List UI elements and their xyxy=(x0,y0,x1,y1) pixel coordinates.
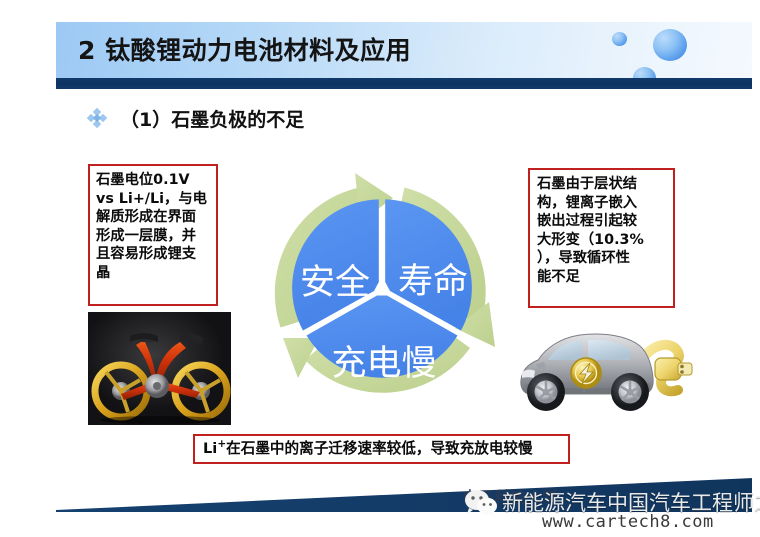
segment-lifespan-label: 寿命 xyxy=(398,262,468,302)
decorative-bubble-large xyxy=(653,29,687,61)
concept-electric-bicycle-photo xyxy=(88,312,231,425)
callout-left-line: 且容易形成锂支 xyxy=(96,245,212,264)
header-underline-bar xyxy=(56,78,753,89)
callout-bottom-rest: 在石墨中的离子迁移速率较低，导致充放电较慢 xyxy=(226,440,532,457)
car-rear-wheel xyxy=(527,373,565,411)
slide-canvas: 2 钛酸锂动力电池材料及应用 （1）石墨负极的不足 石墨电位0.1V vs Li… xyxy=(0,0,760,537)
canvas-top-margin xyxy=(0,0,760,22)
callout-bottom-ion-diffusion: Li+在石墨中的离子迁移速率较低，导致充放电较慢 xyxy=(193,434,570,464)
lightning-badge-icon xyxy=(571,358,601,388)
canvas-right-margin xyxy=(752,0,760,537)
callout-right-line: ），导致循环性 xyxy=(537,249,668,268)
section-bullet-row: （1）石墨负极的不足 xyxy=(88,104,304,132)
footer-wedge-band xyxy=(0,470,760,537)
callout-bottom-prefix: Li xyxy=(203,440,217,457)
car-front-wheel xyxy=(611,373,649,411)
diamond-bullet-icon xyxy=(88,109,106,127)
three-segment-cycle-diagram: 安全 寿命 充电慢 xyxy=(243,152,521,424)
page-title: 2 钛酸锂动力电池材料及应用 xyxy=(78,31,411,67)
callout-left-line: 石墨电位0.1V xyxy=(96,171,212,190)
callout-right-line: 大形变（10.3% xyxy=(537,231,668,250)
callout-right-line: 石墨由于层状结 xyxy=(537,175,668,194)
callout-left-line: 形成一层膜，并 xyxy=(96,227,212,246)
callout-left-line: vs Li+/Li，与电 xyxy=(96,190,212,209)
segment-safety-label: 安全 xyxy=(300,263,370,303)
callout-left-line: 晶 xyxy=(96,264,212,283)
callout-right-line: 嵌出过程引起较 xyxy=(537,212,668,231)
section-subtitle: （1）石墨负极的不足 xyxy=(120,105,304,132)
callout-right-volume-expansion: 石墨由于层状结 构，锂离子嵌入 嵌出过程引起较 大形变（10.3% ），导致循环… xyxy=(528,168,675,308)
callout-left-graphite-potential: 石墨电位0.1V vs Li+/Li，与电 解质形成在界面 形成一层膜，并 且容… xyxy=(88,164,218,306)
canvas-left-margin xyxy=(0,0,56,537)
callout-left-line: 解质形成在界面 xyxy=(96,208,212,227)
segment-slow-charging-label: 充电慢 xyxy=(331,344,436,384)
electric-car-with-charging-plug-illustration xyxy=(512,322,697,422)
decorative-bubble-small xyxy=(612,32,627,46)
decorative-bubble-medium xyxy=(633,67,656,78)
callout-right-line: 能不足 xyxy=(537,268,668,287)
callout-right-line: 构，锂离子嵌入 xyxy=(537,194,668,213)
slide-header: 2 钛酸锂动力电池材料及应用 xyxy=(56,22,753,78)
callout-bottom-superscript: + xyxy=(217,438,226,450)
